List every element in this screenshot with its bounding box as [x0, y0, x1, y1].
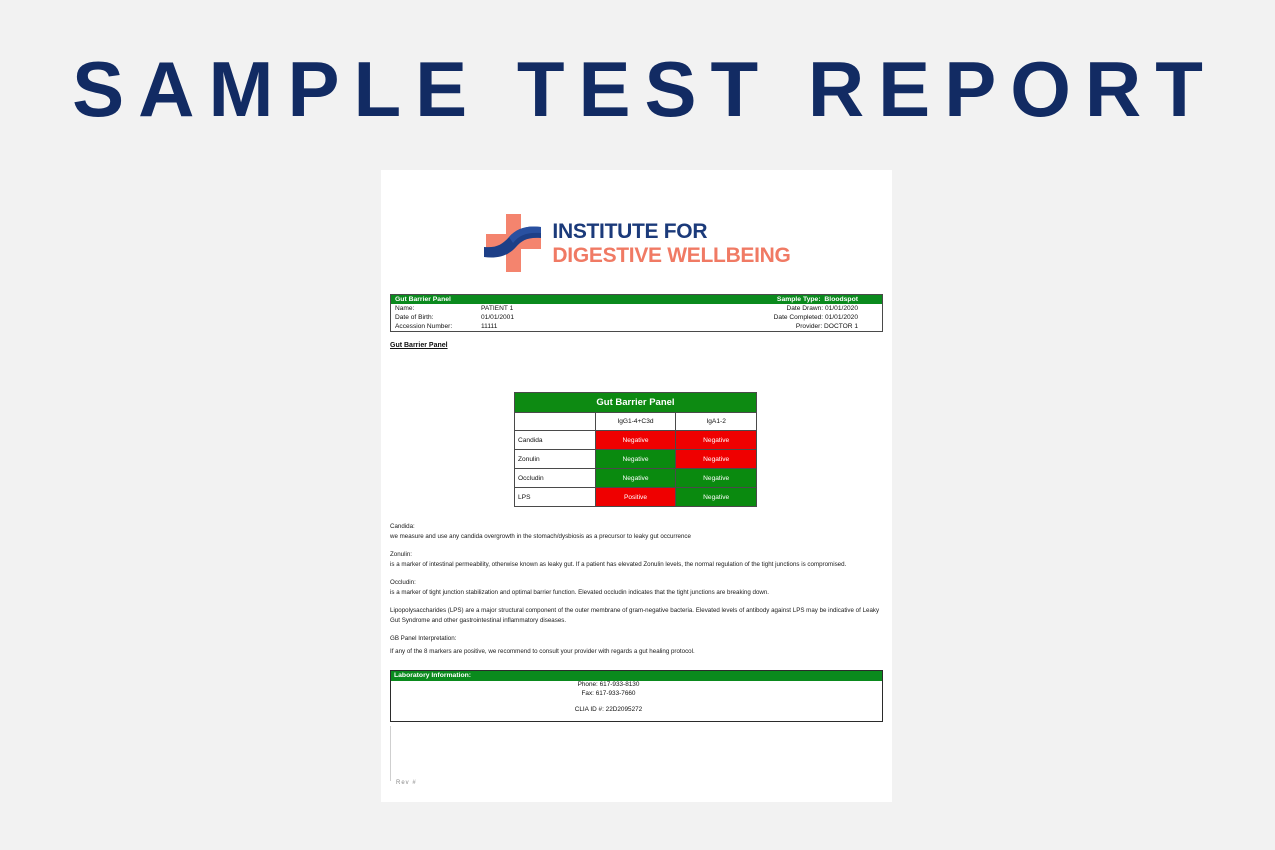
date-completed-value: 01/01/2020 — [825, 314, 858, 321]
result-cell: Negative — [676, 469, 757, 488]
occludin-body: is a marker of tight junction stabilizat… — [390, 588, 883, 598]
zonulin-body: is a marker of intestinal permeability, … — [390, 560, 883, 570]
sample-type-label: Sample Type: — [777, 296, 821, 303]
zonulin-term: Zonulin: — [390, 550, 883, 560]
accession-label: Accession Number: — [391, 322, 478, 332]
dob-value: 01/01/2001 — [477, 313, 653, 322]
result-cell: Positive — [595, 488, 676, 507]
candida-term: Candida: — [390, 522, 883, 532]
zonulin-block: Zonulin: is a marker of intestinal perme… — [390, 550, 883, 569]
lab-clia: CLIA ID #: 22D2095272 — [391, 706, 882, 715]
date-completed-label: Date Completed: — [774, 314, 823, 321]
table-row: Date of Birth: 01/01/2001 Date Completed… — [391, 313, 883, 322]
result-cell: Negative — [676, 431, 757, 450]
patient-header-table: Gut Barrier Panel Sample Type: Bloodspot… — [390, 294, 883, 332]
laboratory-information-box: Laboratory Information: Phone: 617-933-8… — [390, 670, 883, 722]
table-row: Accession Number: 11111 Provider: DOCTOR… — [391, 322, 883, 332]
revision-label: Rev # — [396, 780, 417, 786]
vertical-divider — [390, 726, 391, 781]
patient-header-bar: Gut Barrier Panel Sample Type: Bloodspot — [391, 295, 883, 305]
date-drawn-label: Date Drawn: — [786, 305, 823, 312]
column-header-blank — [515, 413, 596, 431]
logo-line-1: INSTITUTE FOR — [552, 221, 790, 242]
marker-name: LPS — [515, 488, 596, 507]
logo-wordmark: INSTITUTE FOR DIGESTIVE WELLBEING — [552, 221, 790, 266]
sample-type-value: Bloodspot — [824, 296, 858, 303]
candida-body: we measure and use any candida overgrowt… — [390, 532, 883, 542]
dob-label: Date of Birth: — [391, 313, 478, 322]
table-row: LPS Positive Negative — [515, 488, 757, 507]
lab-fax: Fax: 617-933-7660 — [391, 690, 882, 699]
lps-body: Lipopolysaccharides (LPS) are a major st… — [390, 606, 883, 625]
result-cell: Negative — [676, 488, 757, 507]
date-drawn: Date Drawn: 01/01/2020 — [653, 304, 883, 313]
table-row: Occludin Negative Negative — [515, 469, 757, 488]
logo-line-2: DIGESTIVE WELLBEING — [552, 245, 790, 266]
cross-with-ribbon-logo-icon — [482, 212, 544, 274]
name-label: Name: — [391, 304, 478, 313]
marker-name: Zonulin — [515, 450, 596, 469]
provider-value: DOCTOR 1 — [824, 323, 858, 330]
marker-name: Occludin — [515, 469, 596, 488]
result-cell: Negative — [595, 450, 676, 469]
interpretation-text: Candida: we measure and use any candida … — [390, 522, 883, 656]
candida-block: Candida: we measure and use any candida … — [390, 522, 883, 541]
table-row: Name: PATIENT 1 Date Drawn: 01/01/2020 — [391, 304, 883, 313]
lps-block: Lipopolysaccharides (LPS) are a major st… — [390, 606, 883, 625]
result-cell: Negative — [595, 469, 676, 488]
page-title: SAMPLE TEST REPORT — [0, 44, 1275, 134]
interpretation-term: GB Panel Interpretation: — [390, 634, 883, 644]
occludin-block: Occludin: is a marker of tight junction … — [390, 578, 883, 597]
section-heading: Gut Barrier Panel — [390, 342, 448, 349]
result-cell: Negative — [676, 450, 757, 469]
column-header-iga: IgA1-2 — [676, 413, 757, 431]
provider: Provider: DOCTOR 1 — [653, 322, 883, 332]
date-completed: Date Completed: 01/01/2020 — [653, 313, 883, 322]
laboratory-information-title: Laboratory Information: — [391, 671, 882, 681]
occludin-term: Occludin: — [390, 578, 883, 588]
column-header-igg: IgG1-4+C3d — [595, 413, 676, 431]
interpretation-body: If any of the 8 markers are positive, we… — [390, 647, 883, 657]
gb-interpretation-block: GB Panel Interpretation: If any of the 8… — [390, 634, 883, 656]
table-row: Candida Negative Negative — [515, 431, 757, 450]
provider-label: Provider: — [796, 323, 822, 330]
date-drawn-value: 01/01/2020 — [825, 305, 858, 312]
table-row: Zonulin Negative Negative — [515, 450, 757, 469]
lab-phone: Phone: 617-933-8130 — [391, 681, 882, 690]
result-cell: Negative — [595, 431, 676, 450]
lab-logo: INSTITUTE FOR DIGESTIVE WELLBEING — [381, 206, 892, 280]
results-title: Gut Barrier Panel — [515, 393, 757, 413]
laboratory-information-body: Phone: 617-933-8130 Fax: 617-933-7660 CL… — [391, 681, 882, 721]
marker-name: Candida — [515, 431, 596, 450]
accession-value: 11111 — [477, 322, 653, 332]
gut-barrier-results-table: Gut Barrier Panel IgG1-4+C3d IgA1-2 Cand… — [514, 392, 757, 507]
panel-title: Gut Barrier Panel — [391, 295, 654, 305]
results-header-row: IgG1-4+C3d IgA1-2 — [515, 413, 757, 431]
sample-type: Sample Type: Bloodspot — [653, 295, 883, 305]
report-document-page: INSTITUTE FOR DIGESTIVE WELLBEING Gut Ba… — [381, 170, 892, 802]
name-value: PATIENT 1 — [477, 304, 653, 313]
results-title-row: Gut Barrier Panel — [515, 393, 757, 413]
